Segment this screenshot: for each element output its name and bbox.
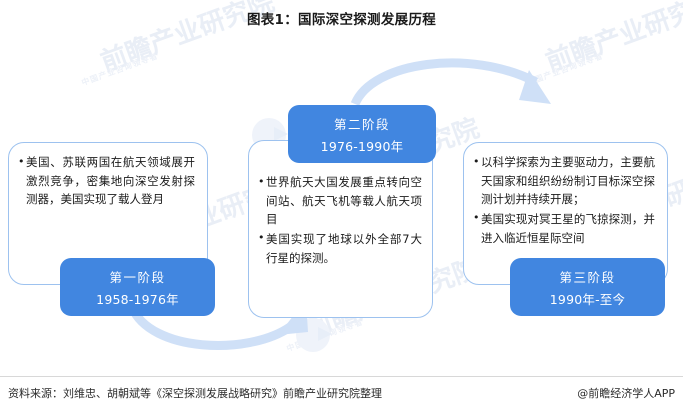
stage-label-1: 第一阶段 1958-1976年 <box>60 258 215 316</box>
stage-card-1-body: 美国、苏联两国在航天领域展开激烈竞争，密集地向深空发射探测器，美国实现了载人登月 <box>9 143 207 218</box>
infographic-canvas: 前瞻产业研究院 中国产业咨询领导者 前瞻产业研究院 中国产业咨询领导者 前瞻产业… <box>0 0 683 416</box>
watermark-tagline: 中国产业咨询领导者 <box>525 50 605 88</box>
stage-label-2-name: 第二阶段 <box>334 114 390 133</box>
brand-credit: @前瞻经济学人APP <box>577 385 675 401</box>
stage-label-1-name: 第一阶段 <box>109 267 165 286</box>
list-item: 美国、苏联两国在航天领域展开激烈竞争，密集地向深空发射探测器，美国实现了载人登月 <box>18 153 195 209</box>
arrow-upper-curve <box>355 63 536 104</box>
list-item: 美国实现了地球以外全部7大行星的探测。 <box>258 230 422 267</box>
watermark-tagline: 中国产业咨询领导者 <box>285 316 365 354</box>
stage-label-3-period: 1990年-至今 <box>550 289 625 308</box>
source-note: 资料来源：刘维忠、胡朝斌等《深空探测发展战略研究》前瞻产业研究院整理 <box>8 385 382 401</box>
list-item: 世界航天大国发展重点转向空间站、航天飞机等载人航天项目 <box>258 173 422 229</box>
list-item: 美国实现对冥王星的飞掠探测，并进入临近恒星际空间 <box>473 210 655 247</box>
stage-card-2: 世界航天大国发展重点转向空间站、航天飞机等载人航天项目 美国实现了地球以外全部7… <box>248 140 433 318</box>
stage-label-1-period: 1958-1976年 <box>96 289 179 308</box>
arrow-upper-head <box>519 70 551 104</box>
footer-divider <box>0 376 683 377</box>
page-title: 图表1：国际深空探测发展历程 <box>0 8 683 28</box>
stage-label-3: 第三阶段 1990年-至今 <box>510 258 665 316</box>
list-item: 以科学探索为主要驱动力，主要航天国家和组织纷纷制订目标深空探测计划并持续开展； <box>473 153 655 209</box>
stage-label-2: 第二阶段 1976-1990年 <box>288 105 436 163</box>
stage-card-3-body: 以科学探索为主要驱动力，主要航天国家和组织纷纷制订目标深空探测计划并持续开展； … <box>464 143 667 256</box>
stage-label-3-name: 第三阶段 <box>559 267 615 286</box>
watermark-tagline: 中国产业咨询领导者 <box>80 50 160 88</box>
stage-label-2-period: 1976-1990年 <box>321 136 404 155</box>
